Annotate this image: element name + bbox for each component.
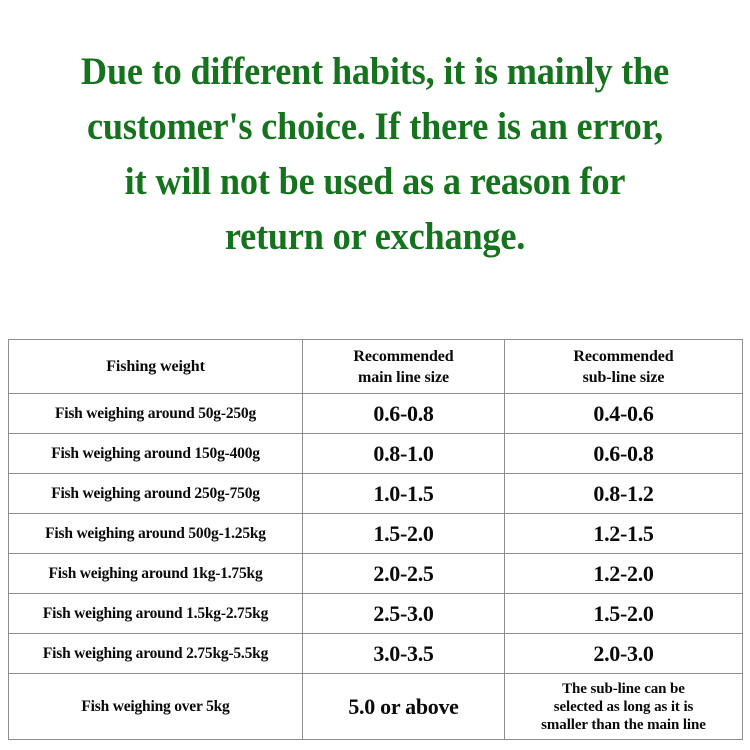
cell-sub-line-size: 0.6-0.8 (505, 434, 743, 474)
notice-line-2: customer's choice. If there is an error, (26, 99, 724, 154)
cell-fishing-weight: Fish weighing around 150g-400g (9, 434, 303, 474)
table-row: Fish weighing around 2.75kg-5.5kg 3.0-3.… (9, 634, 743, 674)
table-row: Fish weighing around 50g-250g 0.6-0.8 0.… (9, 394, 743, 434)
cell-fishing-weight: Fish weighing around 1kg-1.75kg (9, 554, 303, 594)
line-size-recommendation-table: Fishing weight Recommended main line siz… (8, 339, 743, 740)
sub-line-note-line-3: smaller than the main line (509, 716, 738, 734)
cell-main-line-size: 1.0-1.5 (303, 474, 505, 514)
cell-sub-line-size: 1.5-2.0 (505, 594, 743, 634)
notice-line-4: return or exchange. (26, 209, 724, 264)
cell-main-line-size: 2.0-2.5 (303, 554, 505, 594)
cell-sub-line-note: The sub-line can be selected as long as … (505, 674, 743, 740)
product-info-page: Due to different habits, it is mainly th… (0, 0, 750, 750)
column-header-fishing-weight: Fishing weight (9, 340, 303, 394)
cell-sub-line-size: 1.2-1.5 (505, 514, 743, 554)
cell-main-line-size: 0.6-0.8 (303, 394, 505, 434)
cell-main-line-size: 1.5-2.0 (303, 514, 505, 554)
sub-line-note-line-2: selected as long as it is (509, 698, 738, 716)
cell-main-line-size: 3.0-3.5 (303, 634, 505, 674)
cell-fishing-weight: Fish weighing around 250g-750g (9, 474, 303, 514)
table-row: Fish weighing around 500g-1.25kg 1.5-2.0… (9, 514, 743, 554)
table-header-row: Fishing weight Recommended main line siz… (9, 340, 743, 394)
table-row: Fish weighing around 1.5kg-2.75kg 2.5-3.… (9, 594, 743, 634)
cell-fishing-weight: Fish weighing around 500g-1.25kg (9, 514, 303, 554)
cell-fishing-weight: Fish weighing around 50g-250g (9, 394, 303, 434)
table-row: Fish weighing over 5kg 5.0 or above The … (9, 674, 743, 740)
return-policy-notice: Due to different habits, it is mainly th… (26, 44, 724, 264)
cell-sub-line-size: 0.4-0.6 (505, 394, 743, 434)
cell-sub-line-size: 0.8-1.2 (505, 474, 743, 514)
cell-fishing-weight: Fish weighing around 2.75kg-5.5kg (9, 634, 303, 674)
column-header-main-line-size: Recommended main line size (303, 340, 505, 394)
cell-main-line-size: 2.5-3.0 (303, 594, 505, 634)
cell-fishing-weight: Fish weighing over 5kg (9, 674, 303, 740)
column-header-sub-line-size: Recommended sub-line size (505, 340, 743, 394)
cell-main-line-size: 0.8-1.0 (303, 434, 505, 474)
cell-main-line-size: 5.0 or above (303, 674, 505, 740)
table-row: Fish weighing around 250g-750g 1.0-1.5 0… (9, 474, 743, 514)
cell-sub-line-size: 1.2-2.0 (505, 554, 743, 594)
notice-line-3: it will not be used as a reason for (26, 154, 724, 209)
sub-line-note-line-1: The sub-line can be (509, 680, 738, 698)
table-row: Fish weighing around 150g-400g 0.8-1.0 0… (9, 434, 743, 474)
cell-fishing-weight: Fish weighing around 1.5kg-2.75kg (9, 594, 303, 634)
table-row: Fish weighing around 1kg-1.75kg 2.0-2.5 … (9, 554, 743, 594)
cell-sub-line-size: 2.0-3.0 (505, 634, 743, 674)
notice-line-1: Due to different habits, it is mainly th… (26, 44, 724, 99)
